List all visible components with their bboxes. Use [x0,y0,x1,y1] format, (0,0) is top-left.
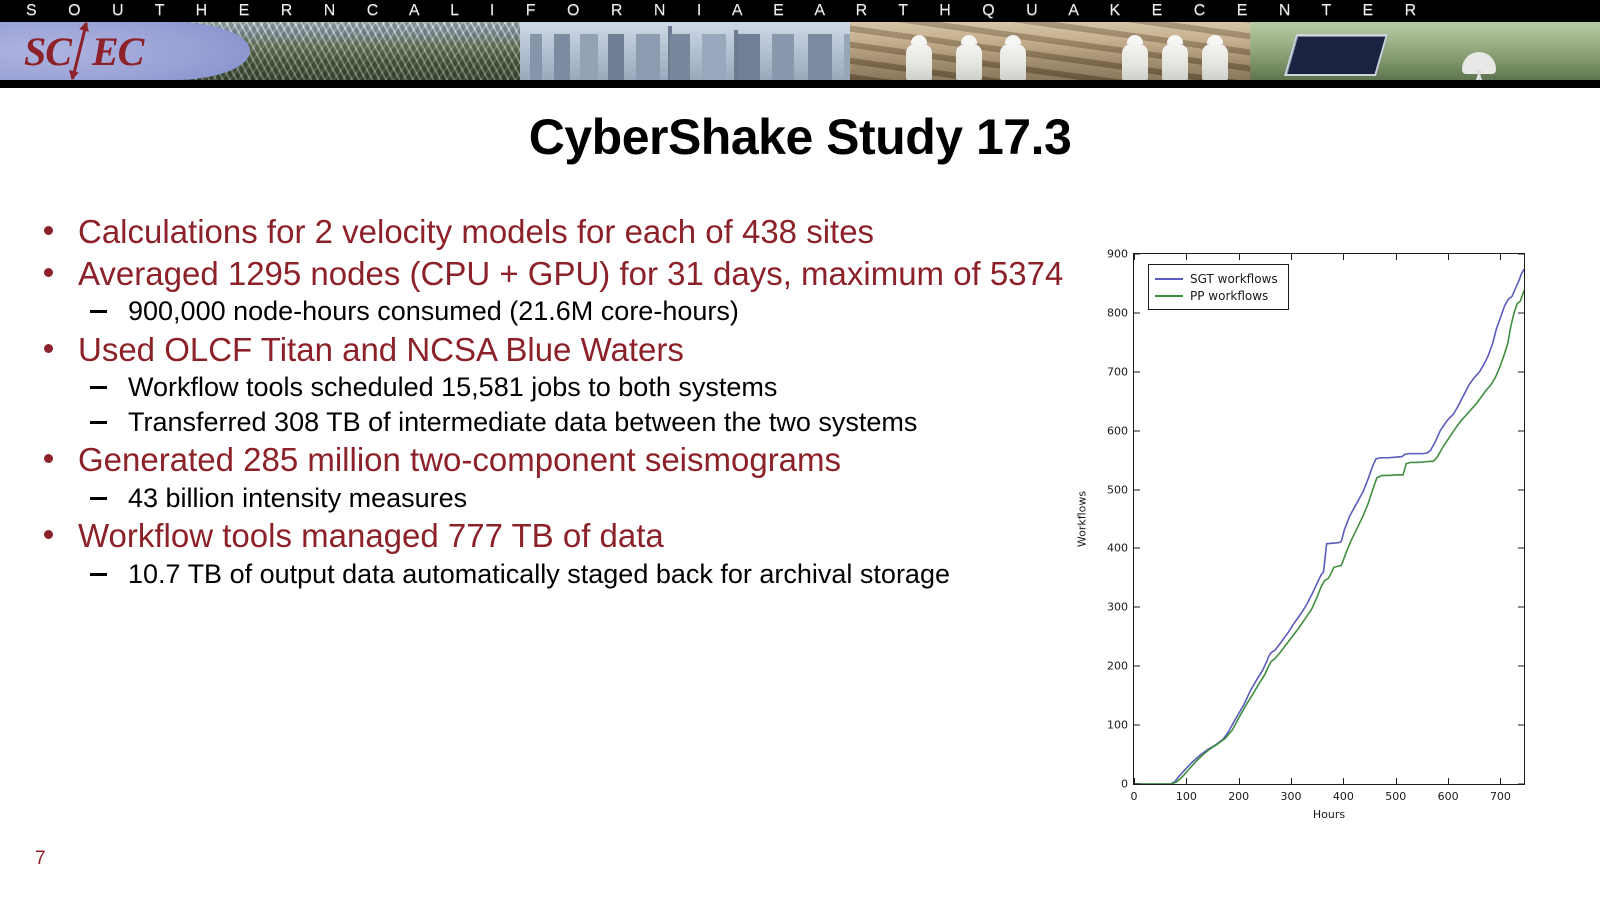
bullet-level1: Averaged 1295 nodes (CPU + GPU) for 31 d… [30,254,1090,294]
chart-y-tick-label: 200 [1107,660,1128,673]
banner-photo-city-skyline [520,22,880,80]
chart-y-tick-label: 600 [1107,424,1128,437]
legend-swatch-sgt [1155,278,1183,280]
bullet-level2-text: Transferred 308 TB of intermediate data … [128,407,917,437]
banner-city-tower [734,30,738,80]
bullet-dot-icon [44,530,53,539]
bullet-level2: Workflow tools scheduled 15,581 jobs to … [30,371,1090,403]
bullet-level1-text: Used OLCF Titan and NCSA Blue Waters [78,331,684,368]
chart-y-tick-mark [1134,371,1140,372]
chart-x-tick-mark [1186,254,1187,260]
bullet-dash-icon [90,497,107,500]
chart-y-tick-mark [1134,548,1140,549]
bullet-level1-text: Averaged 1295 nodes (CPU + GPU) for 31 d… [78,255,1063,292]
chart-y-tick-mark [1518,607,1524,608]
bullet-dot-icon [44,454,53,463]
sub-bullet-list: 43 billion intensity measures [30,482,1090,514]
chart-y-tick-label: 700 [1107,365,1128,378]
bullet-dash-icon [90,386,107,389]
bullet-level2-text: 10.7 TB of output data automatically sta… [128,559,950,589]
scec-logo-sc-text: SC [24,28,71,75]
banner-photo-field-geologists [850,22,1270,80]
chart-x-tick-mark [1448,254,1449,260]
chart-y-tick-mark [1134,725,1140,726]
legend-swatch-pp [1155,295,1183,297]
chart-y-tick-mark [1518,430,1524,431]
banner-org-name: S O U T H E R N C A L I F O R N I A E A … [0,2,1430,20]
bullet-level1-text: Workflow tools managed 777 TB of data [78,517,664,554]
scec-logo-badge: SC EC [0,22,250,80]
chart-y-tick-mark [1518,489,1524,490]
sub-bullet-list: 900,000 node-hours consumed (21.6M core-… [30,295,1090,327]
chart-y-tick-mark [1518,784,1524,785]
chart-x-tick-mark [1396,778,1397,784]
chart-y-tick-label: 800 [1107,306,1128,319]
bullet-dot-icon [44,344,53,353]
chart-x-tick-label: 700 [1490,790,1511,803]
bullet-level2-text: 900,000 node-hours consumed (21.6M core-… [128,296,739,326]
bullet-dash-icon [90,573,107,576]
page-title: CyberShake Study 17.3 [0,108,1600,166]
chart-x-tick-mark [1134,254,1135,260]
chart-y-tick-label: 0 [1121,778,1128,791]
gps-tripod-icon [1464,70,1494,80]
scec-logo-slash-arrow-icon [71,22,88,79]
chart-y-tick-mark [1134,430,1140,431]
chart-x-tick-mark [1343,778,1344,784]
chart-y-tick-mark [1518,725,1524,726]
banner-org-name-strip: S O U T H E R N C A L I F O R N I A E A … [0,0,1600,22]
slide-body: Calculations for 2 velocity models for e… [30,212,1090,592]
chart-legend: SGT workflows PP workflows [1148,264,1289,310]
chart-x-tick-label: 100 [1176,790,1197,803]
banner-person [956,44,982,80]
chart-y-tick-mark [1518,254,1524,255]
chart-y-tick-mark [1518,312,1524,313]
banner-person [1162,44,1188,80]
chart-x-tick-mark [1134,778,1135,784]
chart-y-tick-mark [1134,312,1140,313]
sub-bullet-list: 10.7 TB of output data automatically sta… [30,558,1090,590]
bullet-dot-icon [44,226,53,235]
chart-y-tick-mark [1134,489,1140,490]
chart-x-tick-label: 200 [1228,790,1249,803]
chart-x-tick-mark [1343,254,1344,260]
legend-item-pp: PP workflows [1155,287,1278,304]
chart-x-tick-label: 0 [1131,790,1138,803]
chart-y-tick-label: 100 [1107,719,1128,732]
chart-x-tick-mark [1239,254,1240,260]
chart-line-pp [1134,291,1524,784]
bullet-level2-text: Workflow tools scheduled 15,581 jobs to … [128,372,777,402]
sub-bullet-list: Workflow tools scheduled 15,581 jobs to … [30,371,1090,438]
chart-y-tick-mark [1518,371,1524,372]
bullet-list: Calculations for 2 velocity models for e… [30,212,1090,590]
chart-y-tick-label: 400 [1107,542,1128,555]
page-number: 7 [35,848,46,870]
chart-x-tick-label: 400 [1333,790,1354,803]
banner-person [1000,44,1026,80]
chart-x-tick-mark [1396,254,1397,260]
chart-x-tick-mark [1500,778,1501,784]
chart-line-sgt [1134,269,1524,784]
chart-x-tick-label: 500 [1385,790,1406,803]
scec-logo-ec-text: EC [92,28,143,75]
bullet-level2: 900,000 node-hours consumed (21.6M core-… [30,295,1090,327]
chart-x-tick-label: 300 [1281,790,1302,803]
banner-photo-instrument-site [1250,22,1600,80]
legend-item-sgt: SGT workflows [1155,270,1278,287]
chart-x-tick-mark [1291,254,1292,260]
bullet-level2: 43 billion intensity measures [30,482,1090,514]
banner-person [1202,44,1228,80]
chart-plot-area: SGT workflows PP workflows 0100200300400… [1133,253,1525,785]
bullet-level2: 10.7 TB of output data automatically sta… [30,558,1090,590]
chart-x-tick-mark [1186,778,1187,784]
chart-series-svg [1134,254,1524,784]
chart-y-tick-mark [1518,548,1524,549]
banner-bottom-rule [0,80,1600,88]
bullet-level1-text: Generated 285 million two-component seis… [78,441,841,478]
chart-x-tick-mark [1291,778,1292,784]
bullet-level1-text: Calculations for 2 velocity models for e… [78,213,874,250]
legend-label-pp: PP workflows [1190,289,1268,303]
workflows-chart: Workflows SGT workflows PP workflows 010… [1080,238,1540,808]
chart-x-axis-title: Hours [1133,808,1525,821]
chart-y-tick-label: 900 [1107,248,1128,261]
bullet-level1: Generated 285 million two-component seis… [30,440,1090,480]
chart-x-tick-mark [1448,778,1449,784]
scec-banner: SC EC S O U T H E R N C A L I F O R N I … [0,0,1600,88]
bullet-level1: Calculations for 2 velocity models for e… [30,212,1090,252]
bullet-level2: Transferred 308 TB of intermediate data … [30,406,1090,438]
banner-person [1122,44,1148,80]
bullet-level1: Workflow tools managed 777 TB of data [30,516,1090,556]
bullet-dash-icon [90,310,107,313]
chart-y-tick-mark [1518,666,1524,667]
chart-y-tick-label: 500 [1107,483,1128,496]
chart-y-tick-label: 300 [1107,601,1128,614]
bullet-level2-text: 43 billion intensity measures [128,483,467,513]
chart-y-axis-title: Workflows [1076,491,1089,547]
legend-label-sgt: SGT workflows [1190,272,1278,286]
chart-x-tick-mark [1239,778,1240,784]
bullet-level1: Used OLCF Titan and NCSA Blue Waters [30,330,1090,370]
banner-person [906,44,932,80]
bullet-dash-icon [90,421,107,424]
bullet-dot-icon [44,268,53,277]
chart-x-tick-mark [1500,254,1501,260]
solar-panel-icon [1284,34,1388,76]
chart-x-tick-label: 600 [1438,790,1459,803]
chart-y-tick-mark [1134,607,1140,608]
chart-y-tick-mark [1134,666,1140,667]
banner-city-tower [668,26,672,80]
